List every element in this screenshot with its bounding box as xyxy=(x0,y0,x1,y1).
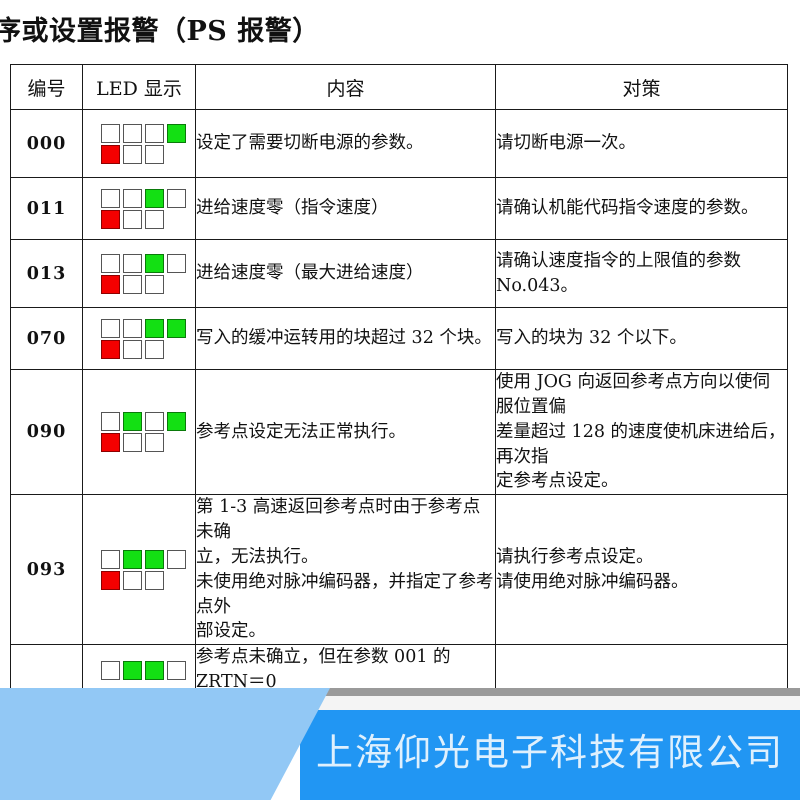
text-line: 请切断电源一次。 xyxy=(496,131,787,156)
led-indicator-off xyxy=(145,571,164,590)
alarm-number: 070 xyxy=(11,308,83,370)
led-indicator-off xyxy=(145,412,164,431)
alarm-number: 000 xyxy=(11,110,83,178)
alarm-action: 写入的块为 32 个以下。 xyxy=(496,308,788,370)
text-line: 参考点设定无法正常执行。 xyxy=(196,420,495,445)
table-row: 013进给速度零（最大进给速度）请确认速度指令的上限值的参数No.043。 xyxy=(11,240,788,308)
led-indicator-green xyxy=(167,124,186,143)
led-pattern xyxy=(83,495,196,645)
alarm-content: 写入的缓冲运转用的块超过 32 个块。 xyxy=(196,308,496,370)
led-indicator-off xyxy=(101,254,120,273)
led-indicator-green xyxy=(145,661,164,680)
page-title: 序或设置报警（PS 报警） xyxy=(0,14,414,50)
text-line: 差量超过 128 的速度使机床进给后，再次指 xyxy=(496,420,787,470)
table-row: 000设定了需要切断电源的参数。请切断电源一次。 xyxy=(11,110,788,178)
alarm-number: 090 xyxy=(11,370,83,495)
led-indicator-off xyxy=(123,210,142,229)
led-indicator-off xyxy=(145,124,164,143)
led-indicator-off xyxy=(123,319,142,338)
led-indicator-off xyxy=(101,189,120,208)
text-line: 设定了需要切断电源的参数。 xyxy=(196,131,495,156)
led-row-bottom xyxy=(101,210,164,229)
text-line: 未使用绝对脉冲编码器，并指定了参考点外 xyxy=(196,570,495,620)
text-line: 请确认机能代码指令速度的参数。 xyxy=(496,196,787,221)
led-indicator-off xyxy=(123,254,142,273)
table-row: 090参考点设定无法正常执行。使用 JOG 向返回参考点方向以使伺服位置偏差量超… xyxy=(11,370,788,495)
alarm-content: 进给速度零（最大进给速度） xyxy=(196,240,496,308)
column-header-led: LED 显示 xyxy=(83,65,196,110)
alarm-content: 第 1-3 高速返回参考点时由于参考点未确立，无法执行。未使用绝对脉冲编码器，并… xyxy=(196,495,496,645)
text-line: 立，无法执行。 xyxy=(196,545,495,570)
led-indicator-green xyxy=(145,254,164,273)
led-indicator-off xyxy=(145,340,164,359)
company-name: 上海仰光电子科技有限公司 xyxy=(316,722,786,784)
text-line: 进给速度零（最大进给速度） xyxy=(196,261,495,286)
led-pattern xyxy=(83,178,196,240)
alarm-number: 011 xyxy=(11,178,83,240)
led-indicator-green xyxy=(145,550,164,569)
led-indicator-off xyxy=(167,661,186,680)
led-row-bottom xyxy=(101,340,164,359)
text-line: 请执行参考点设定。 xyxy=(496,545,787,570)
alarm-content: 进给速度零（指令速度） xyxy=(196,178,496,240)
led-row-top xyxy=(101,124,186,143)
table-row: 093第 1-3 高速返回参考点时由于参考点未确立，无法执行。未使用绝对脉冲编码… xyxy=(11,495,788,645)
table-body: 000设定了需要切断电源的参数。请切断电源一次。011进给速度零（指令速度）请确… xyxy=(11,110,788,696)
led-indicator-red xyxy=(101,210,120,229)
led-row-bottom xyxy=(101,433,164,452)
column-header-content: 内容 xyxy=(196,65,496,110)
led-indicator-off xyxy=(167,550,186,569)
text-line: 写入的缓冲运转用的块超过 32 个块。 xyxy=(196,326,495,351)
led-pattern xyxy=(83,240,196,308)
led-row-top xyxy=(101,550,186,569)
led-indicator-green xyxy=(123,550,142,569)
led-indicator-off xyxy=(123,340,142,359)
led-indicator-off xyxy=(167,189,186,208)
alarm-number: 093 xyxy=(11,495,83,645)
led-indicator-red xyxy=(101,275,120,294)
led-indicator-red xyxy=(101,433,120,452)
document-scan: 序或设置报警（PS 报警） 编号 LED 显示 内容 对策 000设定了需要切断… xyxy=(0,0,800,800)
table-header-row: 编号 LED 显示 内容 对策 xyxy=(11,65,788,110)
alarm-content: 设定了需要切断电源的参数。 xyxy=(196,110,496,178)
led-row-top xyxy=(101,189,186,208)
led-indicator-off xyxy=(101,319,120,338)
led-indicator-off xyxy=(101,412,120,431)
led-indicator-off xyxy=(167,254,186,273)
led-indicator-off xyxy=(101,661,120,680)
led-indicator-off xyxy=(123,571,142,590)
led-indicator-green xyxy=(167,319,186,338)
led-indicator-red xyxy=(101,340,120,359)
column-header-no: 编号 xyxy=(11,65,83,110)
led-indicator-off xyxy=(145,433,164,452)
led-indicator-green xyxy=(123,661,142,680)
led-indicator-red xyxy=(101,571,120,590)
led-indicator-off xyxy=(101,550,120,569)
led-indicator-off xyxy=(123,145,142,164)
alarm-action: 请确认速度指令的上限值的参数No.043。 xyxy=(496,240,788,308)
table-row: 011进给速度零（指令速度）请确认机能代码指令速度的参数。 xyxy=(11,178,788,240)
led-indicator-off xyxy=(145,145,164,164)
led-pattern xyxy=(83,110,196,178)
led-row-top xyxy=(101,319,186,338)
banner-light-panel xyxy=(0,688,330,800)
table-row: 070写入的缓冲运转用的块超过 32 个块。写入的块为 32 个以下。 xyxy=(11,308,788,370)
led-indicator-off xyxy=(145,210,164,229)
led-row-top xyxy=(101,412,186,431)
alarm-action: 请执行参考点设定。请使用绝对脉冲编码器。 xyxy=(496,495,788,645)
text-line: 使用 JOG 向返回参考点方向以使伺服位置偏 xyxy=(496,370,787,420)
column-header-action: 对策 xyxy=(496,65,788,110)
led-indicator-green xyxy=(145,189,164,208)
text-line: 写入的块为 32 个以下。 xyxy=(496,326,787,351)
led-indicator-off xyxy=(123,275,142,294)
led-indicator-green xyxy=(123,412,142,431)
watermark-banner: 上海仰光电子科技有限公司 xyxy=(0,688,800,800)
text-line: 部设定。 xyxy=(196,619,495,644)
led-row-bottom xyxy=(101,275,164,294)
led-row-bottom xyxy=(101,145,164,164)
led-indicator-off xyxy=(123,189,142,208)
alarm-action: 请切断电源一次。 xyxy=(496,110,788,178)
banner-gray-strip xyxy=(310,688,800,696)
led-indicator-red xyxy=(101,145,120,164)
led-indicator-off xyxy=(145,275,164,294)
alarm-content: 参考点设定无法正常执行。 xyxy=(196,370,496,495)
text-line: 第 1-3 高速返回参考点时由于参考点未确 xyxy=(196,495,495,545)
led-pattern xyxy=(83,370,196,495)
text-line: 定参考点设定。 xyxy=(496,469,787,494)
alarm-code-table: 编号 LED 显示 内容 对策 000设定了需要切断电源的参数。请切断电源一次。… xyxy=(10,64,788,696)
alarm-action: 请确认机能代码指令速度的参数。 xyxy=(496,178,788,240)
text-line: 请使用绝对脉冲编码器。 xyxy=(496,570,787,595)
text-line: 进给速度零（指令速度） xyxy=(196,196,495,221)
led-row-bottom xyxy=(101,571,164,590)
alarm-action: 使用 JOG 向返回参考点方向以使伺服位置偏差量超过 128 的速度使机床进给后… xyxy=(496,370,788,495)
text-line: 请确认速度指令的上限值的参数 xyxy=(496,249,787,274)
led-indicator-off xyxy=(123,124,142,143)
led-row-top xyxy=(101,254,186,273)
banner-white-strip xyxy=(310,696,800,710)
led-indicator-off xyxy=(101,124,120,143)
led-indicator-green xyxy=(167,412,186,431)
text-line: No.043。 xyxy=(496,274,787,299)
led-indicator-off xyxy=(123,433,142,452)
alarm-number: 013 xyxy=(11,240,83,308)
led-pattern xyxy=(83,308,196,370)
led-indicator-green xyxy=(145,319,164,338)
led-row-top xyxy=(101,661,186,680)
